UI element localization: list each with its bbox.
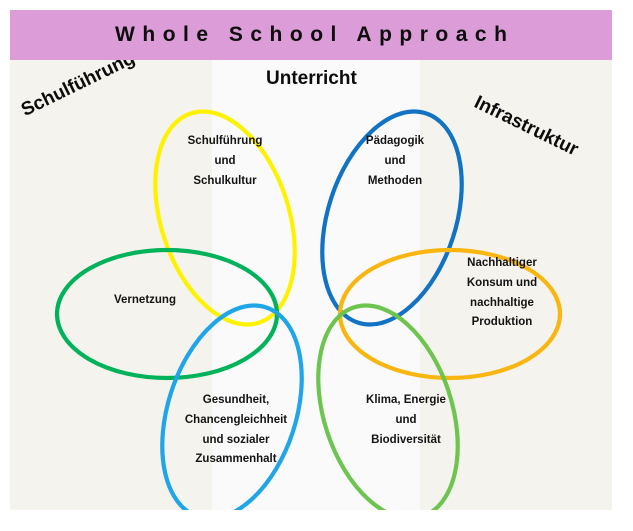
diagram-canvas: Schulführung Unterricht Infrastruktur Sc… [10, 60, 612, 510]
lobe-ellipse-dark-blue [297, 94, 487, 343]
venn-flower-svg [10, 60, 612, 510]
lobe-ellipse-orange [340, 250, 560, 378]
whole-school-approach-diagram: Whole School Approach Schulführung Unter [0, 0, 633, 531]
page-title: Whole School Approach [108, 23, 515, 47]
lobe-ellipse-yellow [130, 94, 320, 343]
header-banner: Whole School Approach [10, 10, 612, 60]
lobe-ellipse-dark-green [57, 250, 277, 378]
